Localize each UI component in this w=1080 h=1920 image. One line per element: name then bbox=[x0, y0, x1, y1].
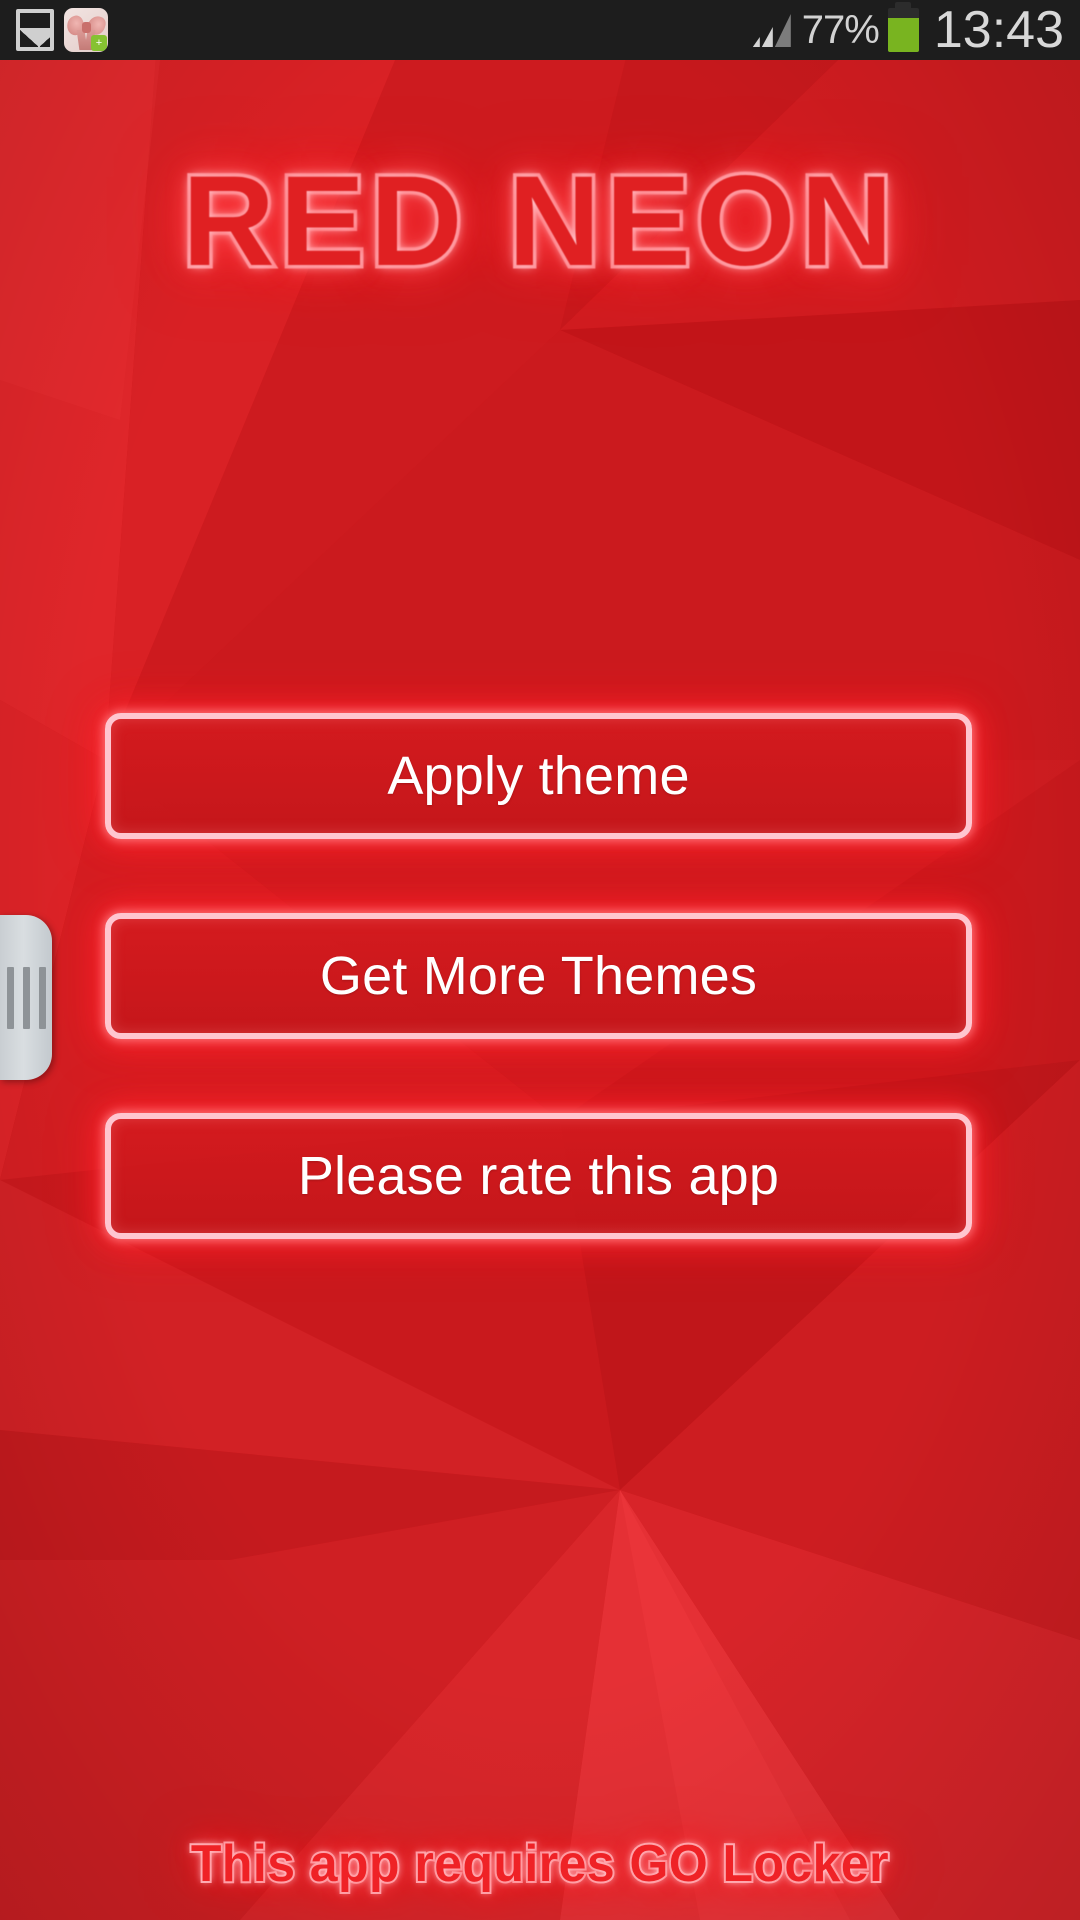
signal-bars-icon bbox=[753, 13, 793, 47]
gallery-icon[interactable] bbox=[16, 9, 54, 51]
rate-app-button[interactable]: Please rate this app bbox=[105, 1113, 972, 1239]
status-bar-left-icons: + bbox=[0, 8, 108, 52]
battery-icon bbox=[888, 8, 919, 52]
signal-bar-2 bbox=[762, 27, 773, 47]
footer-requirement-note: This app requires GO Locker bbox=[22, 1834, 1059, 1894]
apply-theme-button[interactable]: Apply theme bbox=[105, 713, 972, 839]
status-bar[interactable]: + 77% 13:43 bbox=[0, 0, 1080, 60]
rate-app-label: Please rate this app bbox=[298, 1145, 779, 1207]
get-more-themes-label: Get More Themes bbox=[320, 945, 757, 1007]
drawer-grip-line-3 bbox=[39, 967, 46, 1029]
bow-badge: + bbox=[91, 35, 107, 51]
drawer-handle[interactable] bbox=[0, 915, 52, 1080]
drawer-grip-line-2 bbox=[23, 967, 30, 1029]
page-title: RED NEON bbox=[0, 148, 1080, 295]
signal-bar-3 bbox=[775, 14, 791, 47]
signal-bar-1 bbox=[753, 37, 760, 47]
battery-level-fill bbox=[888, 18, 919, 52]
status-bar-clock: 13:43 bbox=[934, 0, 1064, 60]
battery-percent-label: 77% bbox=[802, 8, 879, 53]
status-bar-right-icons: 77% 13:43 bbox=[753, 0, 1080, 60]
bow-knot bbox=[82, 22, 91, 33]
app-screen: + 77% 13:43 RED NEON Apply theme Get Mor… bbox=[0, 0, 1080, 1920]
bow-app-icon[interactable]: + bbox=[64, 8, 108, 52]
apply-theme-label: Apply theme bbox=[387, 745, 689, 807]
drawer-grip-line-1 bbox=[7, 967, 14, 1029]
get-more-themes-button[interactable]: Get More Themes bbox=[105, 913, 972, 1039]
